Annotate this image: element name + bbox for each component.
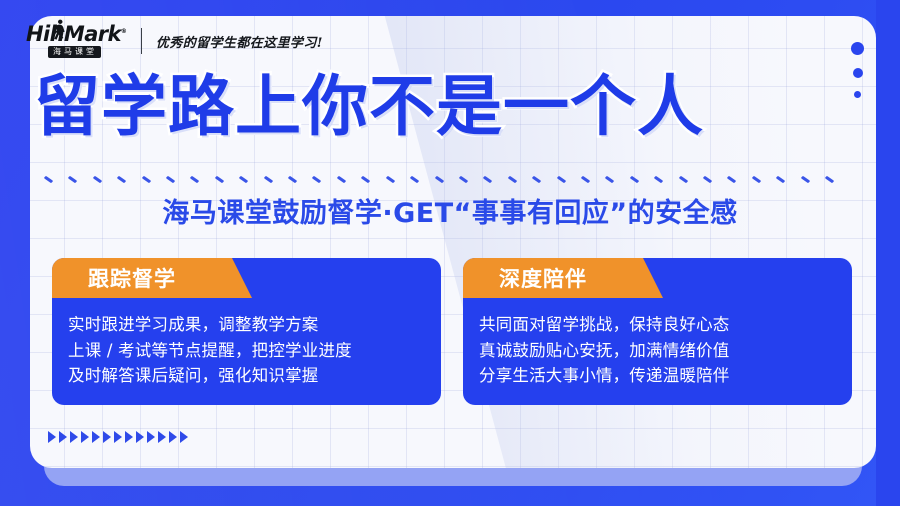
- card-title: 深度陪伴: [499, 258, 587, 298]
- triangle-right-icon: [59, 431, 67, 443]
- feature-card-tracking: 跟踪督学 实时跟进学习成果，调整教学方案 上课 / 考试等节点提醒，把控学业进度…: [52, 258, 441, 405]
- slash-dash-icon: [263, 175, 273, 182]
- slash-dash-icon: [44, 175, 54, 182]
- slash-dash-icon: [825, 175, 835, 182]
- slash-dash-icon: [800, 175, 810, 182]
- slash-dash-icon: [581, 175, 591, 182]
- card-line: 分享生活大事小情，传递温暖陪伴: [479, 363, 852, 389]
- slash-dash-icon: [605, 175, 615, 182]
- slash-dash-icon: [752, 175, 762, 182]
- card-line: 实时跟进学习成果，调整教学方案: [68, 312, 441, 338]
- triangle-right-icon: [70, 431, 78, 443]
- triangle-right-icon: [180, 431, 188, 443]
- highmark-logo: HihMark® 海马课堂: [26, 24, 127, 58]
- triangle-right-icon: [147, 431, 155, 443]
- logo-chinese-name: 海马课堂: [48, 46, 101, 58]
- slash-dash-icon: [190, 175, 200, 182]
- card-header-tracking: 跟踪督学: [52, 258, 441, 298]
- slash-dash-icon: [410, 175, 420, 182]
- circle-icon: [853, 68, 863, 78]
- slash-dash-icon: [678, 175, 688, 182]
- slash-dash-icon: [141, 175, 151, 182]
- promo-poster: HihMark® 海马课堂 优秀的留学生都在这里学习! 留学路上你不是一个人 海…: [0, 0, 900, 506]
- slash-dash-icon: [629, 175, 639, 182]
- triangle-right-icon: [103, 431, 111, 443]
- slash-dash-icon: [483, 175, 493, 182]
- logo-word-prefix: Hi: [26, 22, 50, 46]
- card-line: 及时解答课后疑问，强化知识掌握: [68, 363, 441, 389]
- slash-dash-icon: [68, 175, 78, 182]
- slash-dash-icon: [93, 175, 103, 182]
- arrow-strip: [48, 431, 188, 443]
- triangle-right-icon: [125, 431, 133, 443]
- card-line: 真诚鼓励贴心安抚，加满情绪价值: [479, 338, 852, 364]
- slash-dash-icon: [337, 175, 347, 182]
- slash-dash-icon: [703, 175, 713, 182]
- header-divider: [141, 28, 142, 54]
- slash-dash-icon: [239, 175, 249, 182]
- slash-dash-icon: [776, 175, 786, 182]
- card-header-companionship: 深度陪伴: [463, 258, 852, 298]
- slash-dash-icon: [215, 175, 225, 182]
- card-line: 共同面对留学挑战，保持良好心态: [479, 312, 852, 338]
- slash-dash-icon: [727, 175, 737, 182]
- feature-card-group: 跟踪督学 实时跟进学习成果，调整教学方案 上课 / 考试等节点提醒，把控学业进度…: [52, 258, 852, 405]
- triangle-right-icon: [48, 431, 56, 443]
- slash-dash-icon: [532, 175, 542, 182]
- card-title: 跟踪督学: [88, 258, 176, 298]
- feature-card-companionship: 深度陪伴 共同面对留学挑战，保持良好心态 真诚鼓励贴心安抚，加满情绪价值 分享生…: [463, 258, 852, 405]
- slash-dash-icon: [288, 175, 298, 182]
- triangle-right-icon: [169, 431, 177, 443]
- card-body-companionship: 共同面对留学挑战，保持良好心态 真诚鼓励贴心安抚，加满情绪价值 分享生活大事小情…: [463, 298, 852, 389]
- card-line: 上课 / 考试等节点提醒，把控学业进度: [68, 338, 441, 364]
- slash-dash-icon: [312, 175, 322, 182]
- page-subtitle: 海马课堂鼓励督学·GET“事事有回应”的安全感: [0, 198, 900, 230]
- logo-figure-icon: [53, 19, 66, 45]
- slash-dash-icon: [556, 175, 566, 182]
- slash-dash-icon: [654, 175, 664, 182]
- right-edge-strip: [876, 0, 900, 506]
- brand-header: HihMark® 海马课堂 优秀的留学生都在这里学习!: [26, 24, 323, 58]
- slash-divider: [44, 172, 834, 186]
- triangle-right-icon: [114, 431, 122, 443]
- slash-dash-icon: [459, 175, 469, 182]
- slash-dash-icon: [507, 175, 517, 182]
- triangle-right-icon: [81, 431, 89, 443]
- triangle-right-icon: [92, 431, 100, 443]
- brand-tagline: 优秀的留学生都在这里学习!: [156, 32, 323, 51]
- card-body-tracking: 实时跟进学习成果，调整教学方案 上课 / 考试等节点提醒，把控学业进度 及时解答…: [52, 298, 441, 389]
- slash-dash-icon: [361, 175, 371, 182]
- circle-icon: [854, 91, 861, 98]
- slash-dash-icon: [385, 175, 395, 182]
- triangle-right-icon: [136, 431, 144, 443]
- slash-dash-icon: [434, 175, 444, 182]
- page-title: 留学路上你不是一个人: [34, 74, 834, 140]
- slash-dash-icon: [166, 175, 176, 182]
- logo-wordmark: HihMark®: [26, 24, 127, 45]
- dot-column: [851, 42, 864, 98]
- logo-registered-icon: ®: [121, 28, 127, 35]
- circle-icon: [851, 42, 864, 55]
- triangle-right-icon: [158, 431, 166, 443]
- slash-dash-icon: [117, 175, 127, 182]
